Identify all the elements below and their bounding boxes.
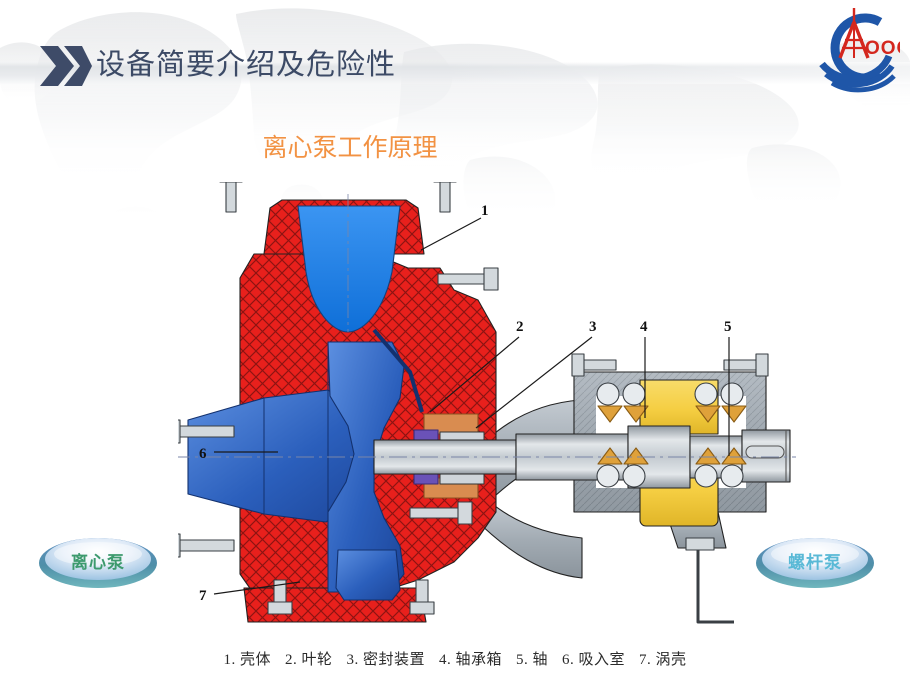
double-chevron-right-icon (38, 44, 94, 88)
legend-item: 3. 密封装置 (346, 652, 425, 668)
legend-item: 7. 涡壳 (639, 652, 687, 668)
nav-button-centrifugal-pump[interactable]: 离心泵 (35, 530, 161, 590)
legend-item: 2. 叶轮 (285, 652, 333, 668)
slide-root: 设备简要介绍及危险性 OOC 离心泵工作原理 (0, 0, 910, 682)
drain-plug (686, 538, 714, 550)
nav-button-screw-pump[interactable]: 螺杆泵 (752, 530, 878, 590)
centrifugal-pump-cutaway-diagram (178, 182, 798, 637)
legend-item: 1. 壳体 (223, 652, 271, 668)
svg-text:OOC: OOC (865, 38, 900, 59)
legend-item: 4. 轴承箱 (439, 652, 502, 668)
cnooc-logo: OOC (804, 4, 900, 96)
parts-legend: 1. 壳体2. 叶轮3. 密封装置4. 轴承箱5. 轴6. 吸入室7. 涡壳 (0, 648, 910, 669)
oval-button-shape (752, 530, 878, 590)
page-title: 设备简要介绍及危险性 (96, 41, 396, 83)
drain-pipe (698, 548, 734, 622)
legend-item: 6. 吸入室 (562, 652, 625, 668)
section-subtitle: 离心泵工作原理 (0, 128, 700, 164)
legend-item: 5. 轴 (516, 652, 548, 668)
oval-button-shape (35, 530, 161, 590)
